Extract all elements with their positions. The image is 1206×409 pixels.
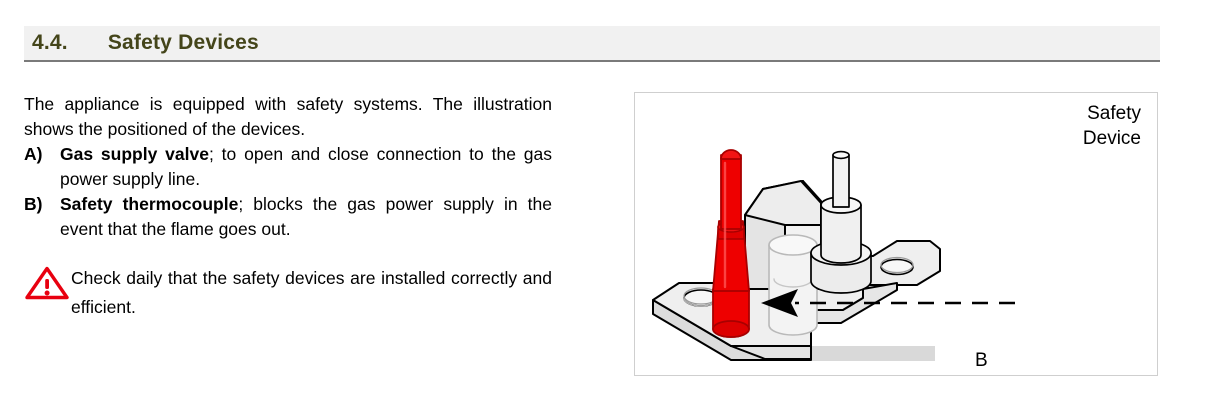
list-item: B) Safety thermocouple; blocks the gas p… <box>24 192 552 242</box>
callout-label-b: B <box>975 350 988 372</box>
list-item: A) Gas supply valve; to open and close c… <box>24 142 552 192</box>
intro-paragraph: The appliance is equipped with safety sy… <box>24 92 552 142</box>
warning-text: Check daily that the safety devices are … <box>71 268 552 317</box>
list-text-b: Safety thermocouple; blocks the gas powe… <box>60 192 552 242</box>
list-term-a: Gas supply valve <box>60 144 209 164</box>
section-heading-band: 4.4. Safety Devices <box>24 26 1160 62</box>
list-term-b: Safety thermocouple <box>60 194 238 214</box>
section-number: 4.4. <box>32 31 68 55</box>
warning-triangle-icon <box>24 266 70 300</box>
section-title: Safety Devices <box>108 31 259 55</box>
list-marker-a: A) <box>24 142 60 167</box>
warning-note: Check daily that the safety devices are … <box>24 264 552 322</box>
safety-device-assembly-drawing <box>635 93 1159 377</box>
list-text-a: Gas supply valve; to open and close conn… <box>60 142 552 192</box>
list-marker-b: B) <box>24 192 60 217</box>
illustration-panel: Safety Device <box>634 92 1158 376</box>
body-text-column: The appliance is equipped with safety sy… <box>24 92 552 322</box>
